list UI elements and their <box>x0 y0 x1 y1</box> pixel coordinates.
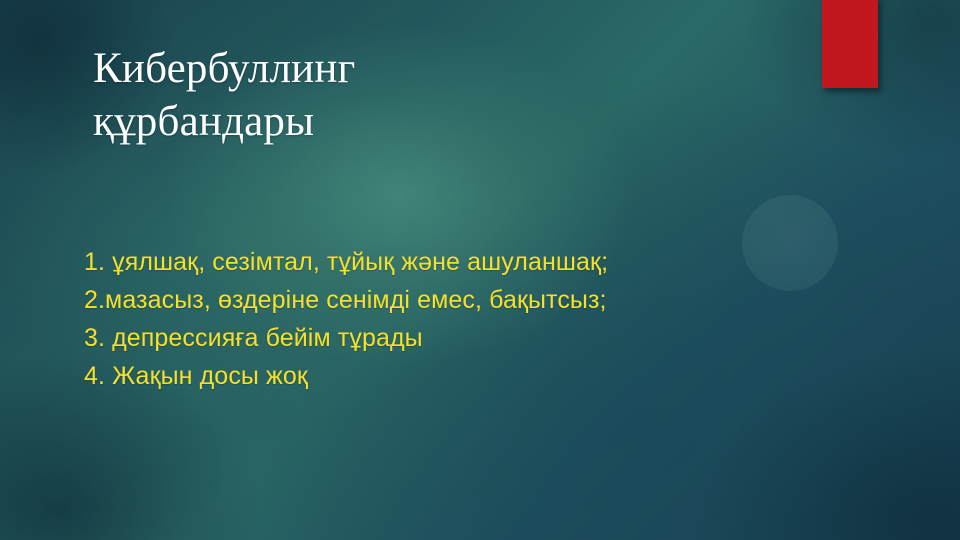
red-accent-rectangle <box>822 0 878 88</box>
list-item: 1. ұялшақ, сезімтал, тұйық және ашуланша… <box>84 243 884 281</box>
victim-traits-list: 1. ұялшақ, сезімтал, тұйық және ашуланша… <box>84 243 884 395</box>
list-item: 4. Жақын досы жоқ <box>84 357 884 395</box>
slide-title: Кибербуллинг құрбандары <box>93 42 733 148</box>
slide-canvas: Кибербуллинг құрбандары 1. ұялшақ, сезім… <box>0 0 960 540</box>
list-item: 2.мазасыз, өздеріне сенімді емес, бақытс… <box>84 281 884 319</box>
list-item: 3. депрессияға бейім тұрады <box>84 319 884 357</box>
